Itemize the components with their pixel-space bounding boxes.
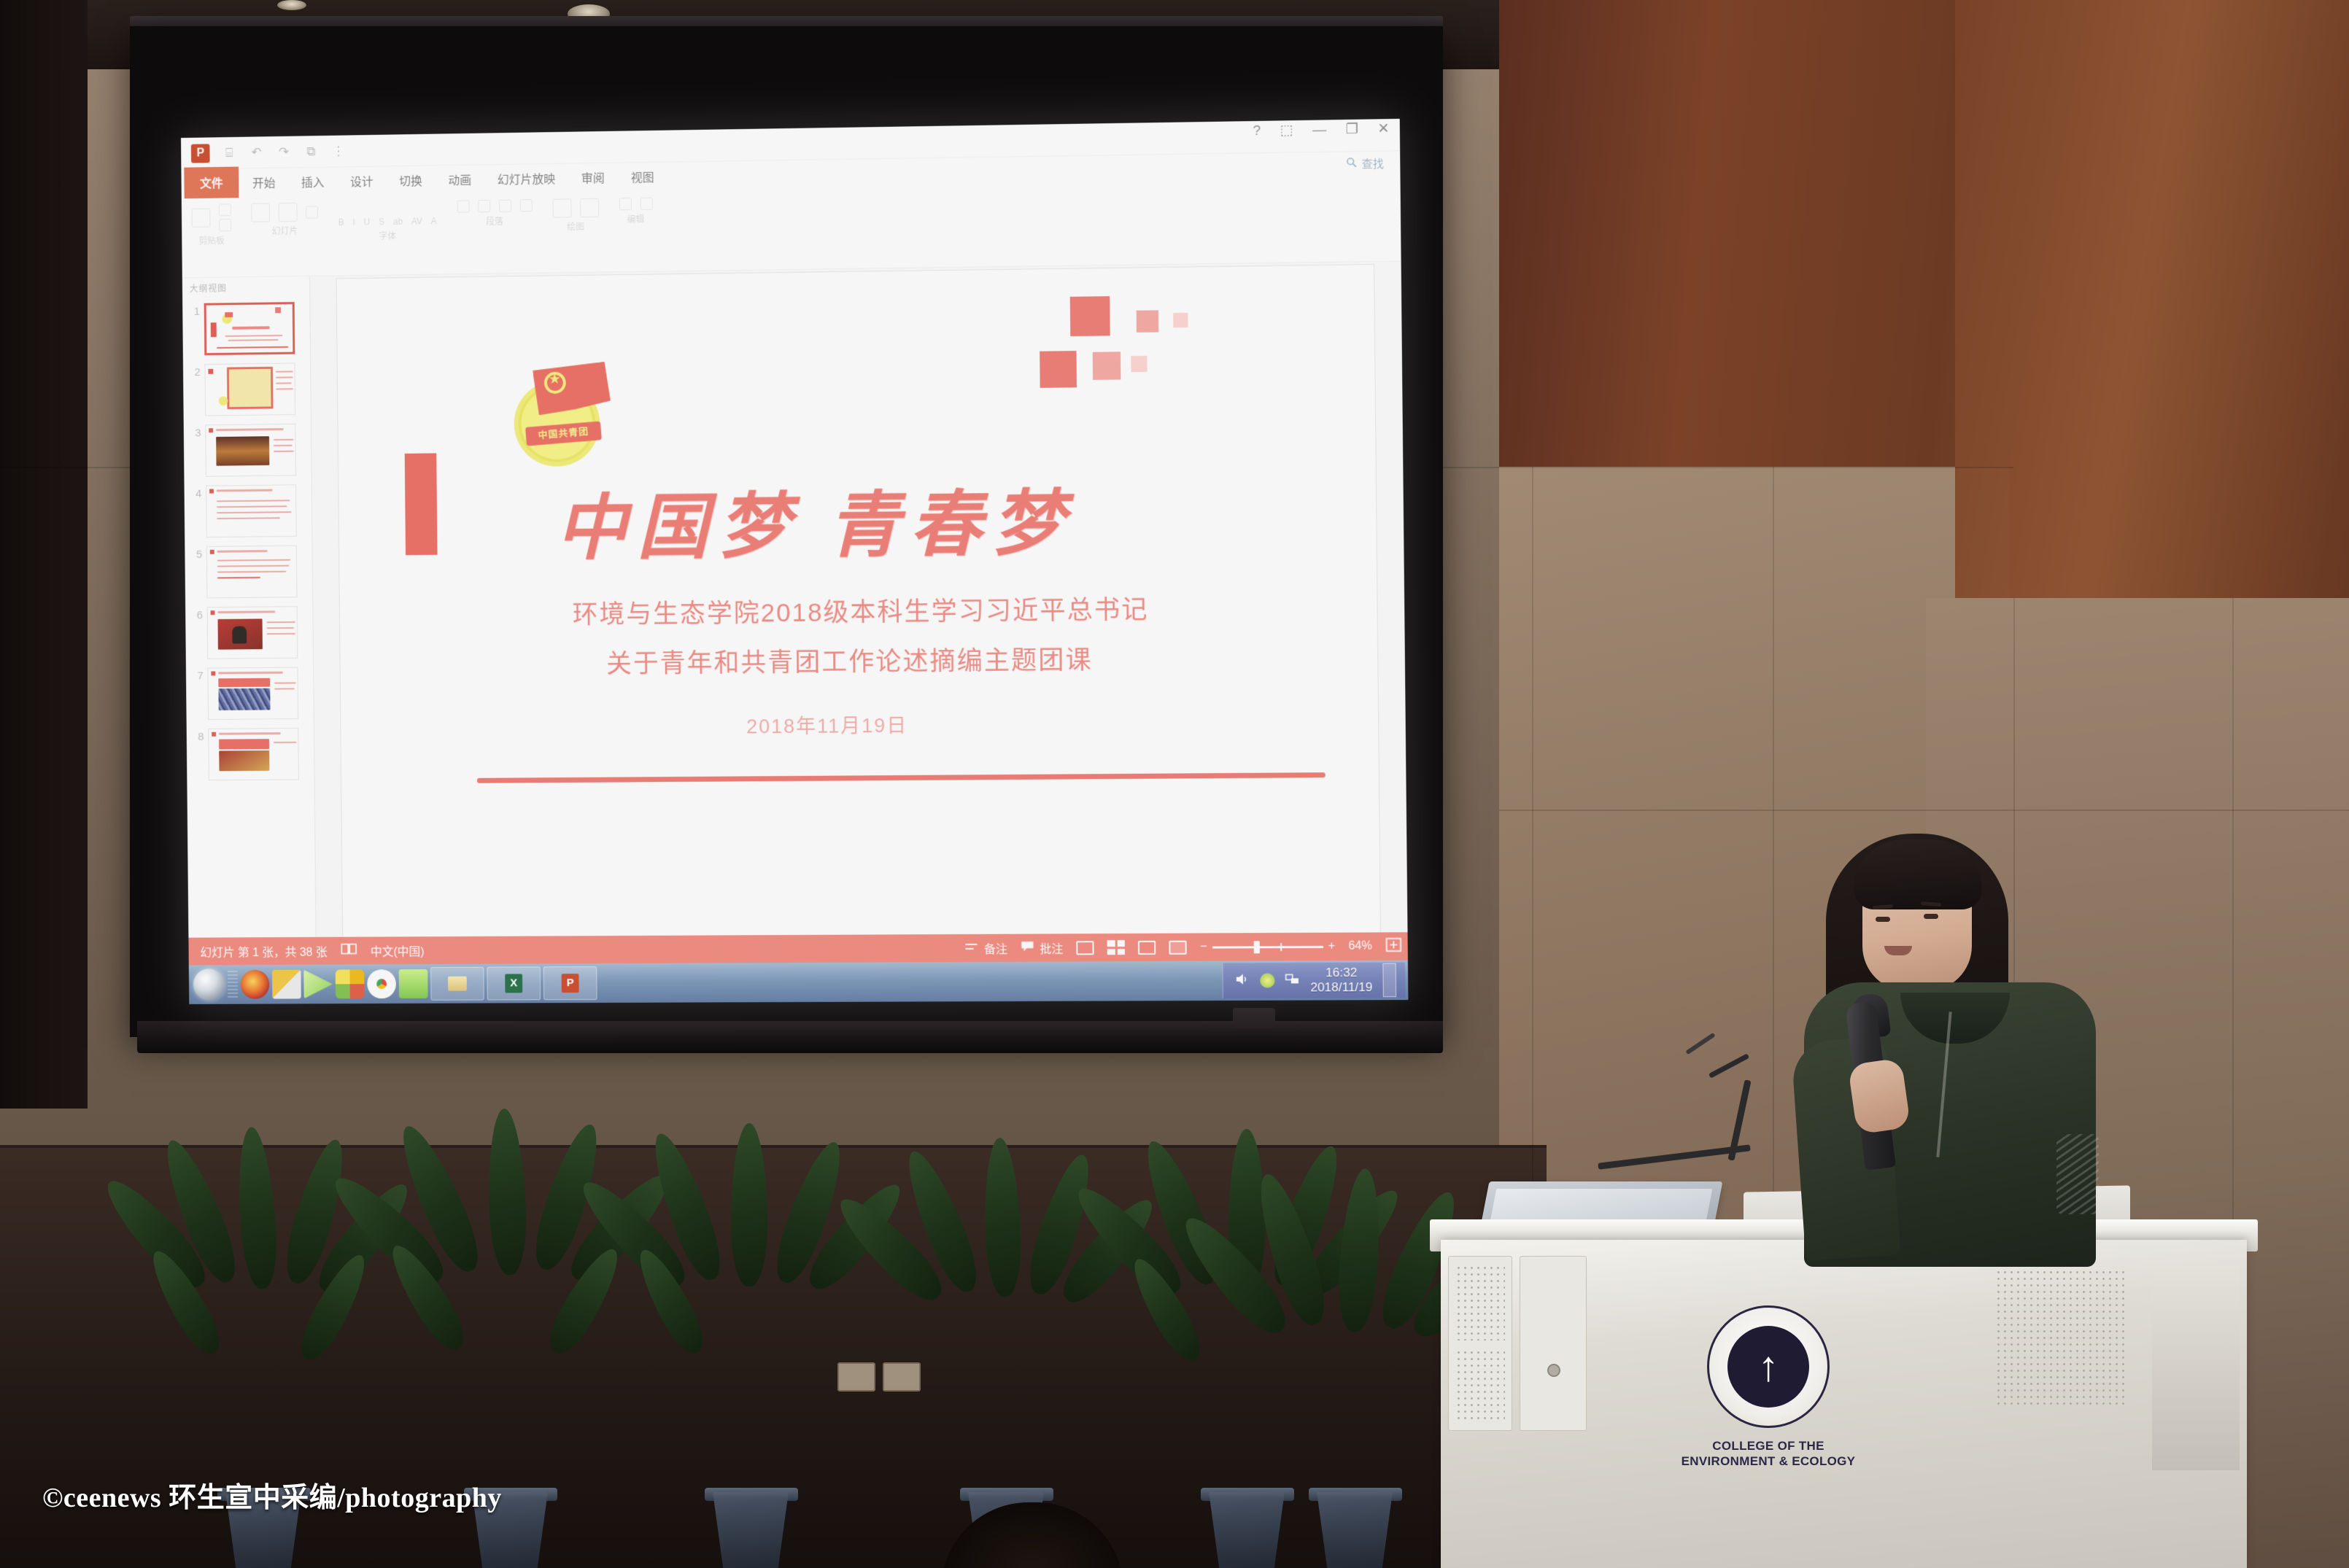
thumbnail-item[interactable]: 4 (185, 484, 312, 537)
select-icon[interactable] (640, 198, 652, 210)
thumbnail-preview[interactable] (208, 728, 299, 780)
ribbon-group-clipboard: 剪贴板 (192, 203, 232, 247)
decor-square (1093, 352, 1121, 380)
podium-caption-line2: ENVIRONMENT & ECOLOGY (1671, 1453, 1866, 1469)
microphone-stand (1598, 1020, 1816, 1187)
tab-slideshow[interactable]: 幻灯片放映 (485, 164, 568, 195)
thumbnail-preview[interactable] (207, 606, 298, 659)
char-spacing-icon[interactable]: AV (411, 216, 422, 226)
ribbon-group-font: B I U S ab AV A 字体 (338, 201, 437, 243)
paste-icon[interactable] (192, 209, 211, 228)
excel-window-button[interactable]: X (487, 966, 541, 1000)
layout-icon[interactable] (279, 203, 298, 222)
projector-screen-weight (1233, 1008, 1275, 1028)
powerpoint-status-bar: 幻灯片 第 1 张，共 38 张 中文(中国) (188, 932, 1407, 965)
font-name-box[interactable] (358, 201, 394, 214)
presenter-hand (1848, 1057, 1911, 1134)
thumbnail-number: 8 (193, 729, 204, 743)
notes-icon (964, 940, 979, 955)
underline-icon[interactable]: U (364, 217, 371, 227)
zoom-slider[interactable]: − + (1200, 940, 1335, 954)
slideshow-view-button[interactable] (1169, 940, 1187, 954)
photo-watermark: ©ceenews 环生宣中采编/photography (42, 1475, 502, 1515)
thumbnail-item[interactable]: 3 (184, 424, 311, 477)
chrome-icon[interactable] (367, 969, 396, 998)
system-tray: 16:32 2018/11/19 (1223, 963, 1406, 998)
thumbnail-preview[interactable] (207, 667, 298, 720)
thumbnail-item[interactable]: 7 (186, 667, 314, 720)
podium-caption-line1: COLLEGE OF THE (1671, 1438, 1866, 1453)
thumbnail-number: 2 (189, 364, 201, 379)
presenter (1791, 820, 2105, 1258)
podium-speaker-grille (1455, 1265, 1505, 1340)
slide-sorter-view-button[interactable] (1107, 940, 1125, 955)
zoom-track[interactable] (1212, 945, 1323, 948)
decor-square (1131, 356, 1147, 372)
thumbnail-number: 1 (188, 303, 200, 318)
tile-seam (2232, 598, 2234, 1254)
explorer-window-button[interactable] (430, 967, 484, 1001)
align-center-icon[interactable] (519, 199, 532, 211)
thumbnail-number: 6 (191, 607, 203, 621)
zoom-tick (1280, 943, 1282, 951)
thumbnail-preview[interactable] (206, 546, 298, 599)
tab-design[interactable]: 设计 (338, 166, 386, 196)
thumbnail-preview[interactable] (204, 302, 295, 355)
start-button[interactable] (193, 969, 225, 1001)
tab-animations[interactable]: 动画 (436, 165, 484, 195)
potted-plant (657, 1123, 861, 1568)
tab-view[interactable]: 视图 (619, 163, 667, 193)
thumbnail-number: 3 (190, 424, 201, 439)
university-crest-icon: ↑ (1707, 1305, 1830, 1428)
notes-label: 备注 (984, 939, 1007, 957)
slide-subtitle-line2: 关于青年和共青团工作论述摘编主题团课 (606, 639, 1093, 680)
restore-icon[interactable]: ❐ (1346, 121, 1359, 138)
green-app-icon[interactable] (399, 969, 428, 998)
media-player-icon[interactable] (303, 970, 333, 999)
reset-icon[interactable] (306, 206, 318, 218)
find-button[interactable]: 查找 (1346, 156, 1384, 172)
windows-taskbar: X P (189, 960, 1409, 1004)
ribbon-group-label: 编辑 (627, 213, 645, 225)
ribbon-group-label: 幻灯片 (272, 225, 298, 237)
communist-youth-league-emblem-icon: 中国共青团 (509, 361, 616, 468)
thumbnail-item[interactable]: 5 (185, 546, 312, 599)
slideshow-icon[interactable]: ⧉ (303, 144, 319, 160)
close-icon[interactable]: ✕ (1377, 120, 1389, 137)
bullets-icon[interactable] (457, 200, 469, 212)
tile-seam (58, 69, 60, 463)
zoom-out-button[interactable]: − (1200, 941, 1207, 954)
outline-view-label: 大纲视图 (182, 281, 309, 295)
tile-seam (1499, 810, 2349, 811)
cut-icon[interactable] (219, 203, 231, 216)
ribbon-group-slides: 幻灯片 (251, 203, 318, 238)
security-icon[interactable] (1260, 973, 1274, 987)
tab-transitions[interactable]: 切换 (387, 166, 435, 195)
tiles-app-icon[interactable] (272, 970, 301, 999)
decor-square (1173, 313, 1188, 327)
tab-home[interactable]: 开始 (240, 168, 287, 198)
redo-icon[interactable]: ↷ (276, 144, 292, 160)
comments-label: 批注 (1040, 939, 1063, 956)
podium-caption: COLLEGE OF THE ENVIRONMENT & ECOLOGY (1671, 1438, 1866, 1470)
undo-icon[interactable]: ↶ (249, 144, 265, 160)
italic-icon[interactable]: I (352, 217, 355, 228)
tab-review[interactable]: 审阅 (569, 163, 617, 193)
thumbnail-item[interactable]: 8 (187, 728, 314, 781)
save-icon[interactable]: ⌸ (221, 144, 237, 160)
window-controls: ? ⬚ — ❐ ✕ (1253, 120, 1389, 139)
ribbon-group-drawing: 绘图 (552, 198, 599, 233)
lecture-hall-scene: P ⌸ ↶ ↷ ⧉ ⋮ ? ⬚ — ❐ ✕ 登录 (0, 0, 2349, 1568)
language-label[interactable]: 中文(中国) (371, 942, 425, 959)
zoom-level-label[interactable]: 64% (1348, 940, 1372, 953)
thumbnail-preview[interactable] (206, 484, 297, 537)
ribbon-group-label: 绘图 (567, 220, 584, 233)
shadow-icon[interactable]: S (379, 217, 384, 227)
thumbnail-number: 5 (190, 546, 202, 561)
slide-subtitle-line1: 环境与生态学院2018级本科生学习习近平总书记 (572, 589, 1148, 631)
ribbon-group-label: 字体 (379, 230, 396, 242)
powerpoint-logo-icon: P (191, 144, 210, 163)
powerpoint-body: 大纲视图 1 (182, 261, 1408, 937)
podium (1441, 1240, 2247, 1568)
thumbnail-item[interactable]: 6 (185, 606, 313, 659)
shapes-icon[interactable] (552, 198, 571, 217)
new-slide-icon[interactable] (251, 203, 270, 222)
ceiling-light (277, 0, 306, 10)
search-icon (1346, 157, 1357, 171)
current-slide[interactable]: 中国共青团 中国梦 青春梦 环境与生态学院2018级本科生学习习近平总书记 关于… (337, 265, 1381, 952)
show-desktop-button[interactable] (1382, 963, 1396, 997)
tab-file[interactable]: 文件 (184, 167, 239, 199)
font-size-box[interactable] (403, 201, 416, 214)
comments-button[interactable]: 批注 (1021, 939, 1064, 956)
slide-divider-rule (477, 772, 1326, 783)
slide-count-label: 幻灯片 第 1 张，共 38 张 (200, 942, 327, 960)
thumbnail-number: 4 (190, 486, 201, 500)
decor-square (1137, 310, 1159, 333)
ribbon-display-icon[interactable]: ⬚ (1280, 122, 1293, 139)
powerpoint-window-button[interactable]: P (543, 966, 597, 1000)
presenter-sleeve-pattern (2056, 1134, 2099, 1214)
bold-icon[interactable]: B (338, 217, 344, 228)
reading-view-button[interactable] (1138, 940, 1156, 954)
fit-to-window-icon[interactable] (1385, 937, 1402, 955)
clock-date: 2018/11/19 (1310, 980, 1372, 994)
podium-speaker-grille (1455, 1349, 1505, 1422)
decor-square (1070, 296, 1110, 336)
podium-speaker-grille (1995, 1269, 2127, 1408)
slide-date: 2018年11月19日 (746, 710, 908, 740)
minimize-icon[interactable]: — (1312, 122, 1326, 138)
network-icon[interactable] (1285, 972, 1300, 989)
ribbon-group-label: 剪贴板 (198, 234, 225, 247)
clock-time: 16:32 (1326, 966, 1357, 979)
normal-view-button[interactable] (1077, 941, 1094, 955)
find-replace-icon[interactable] (619, 198, 631, 210)
comment-bubble-icon (1021, 940, 1034, 955)
decor-square (1040, 351, 1077, 388)
slide-canvas-area: 中国共青团 中国梦 青春梦 环境与生态学院2018级本科生学习习近平总书记 关于… (310, 261, 1408, 936)
powerpoint-window: P ⌸ ↶ ↷ ⧉ ⋮ ? ⬚ — ❐ ✕ 登录 (181, 119, 1408, 1004)
tab-insert[interactable]: 插入 (289, 167, 336, 197)
slide-thumbnail-panel[interactable]: 大纲视图 1 (182, 276, 317, 938)
projected-desktop: P ⌸ ↶ ↷ ⧉ ⋮ ? ⬚ — ❐ ✕ 登录 (181, 119, 1408, 1004)
taskbar-divider (228, 971, 238, 998)
strikethrough-icon[interactable]: ab (393, 217, 403, 227)
numbering-icon[interactable] (478, 200, 490, 212)
customize-qat-icon[interactable]: ⋮ (330, 143, 347, 159)
zoom-in-button[interactable]: + (1328, 940, 1336, 953)
ribbon-group-editing: 编辑 (619, 198, 652, 226)
ribbon-group-paragraph: 段落 (457, 199, 532, 228)
thumbnail-preview[interactable] (204, 362, 295, 416)
presenter-hair-fringe (1854, 839, 1982, 909)
taskbar-clock[interactable]: 16:32 2018/11/19 (1310, 966, 1372, 995)
slide-title: 中国梦 青春梦 (555, 465, 1075, 574)
arrange-icon[interactable] (580, 198, 599, 217)
presenter-eye (1924, 914, 1938, 919)
volume-icon[interactable] (1235, 972, 1250, 989)
thumbnail-item[interactable]: 1 (182, 302, 310, 356)
podium-lock[interactable] (1547, 1364, 1560, 1377)
crest-glyph: ↑ (1758, 1346, 1779, 1388)
decor-left-bar (405, 453, 438, 555)
podium-door-panel[interactable] (1520, 1256, 1587, 1431)
thumbnail-number: 7 (192, 668, 204, 683)
notes-button[interactable]: 备注 (964, 939, 1008, 957)
spellcheck-icon[interactable] (340, 942, 357, 960)
app-icon-colorful[interactable] (336, 969, 365, 998)
podium-right-panel (2152, 1266, 2240, 1470)
help-icon[interactable]: ? (1253, 123, 1261, 139)
thumbnail-item[interactable]: 2 (183, 362, 311, 416)
thumbnail-preview[interactable] (205, 424, 296, 477)
wall-left-dark (0, 0, 88, 1109)
copy-icon[interactable] (219, 219, 231, 231)
presenter-eye (1876, 917, 1890, 922)
zoom-knob[interactable] (1253, 941, 1259, 953)
firefox-icon[interactable] (241, 970, 270, 999)
ribbon-group-label: 段落 (486, 215, 503, 228)
font-color-icon[interactable]: A (431, 216, 437, 226)
tile-seam (1532, 467, 1533, 1254)
find-label: 查找 (1361, 156, 1384, 172)
align-left-icon[interactable] (499, 200, 511, 212)
